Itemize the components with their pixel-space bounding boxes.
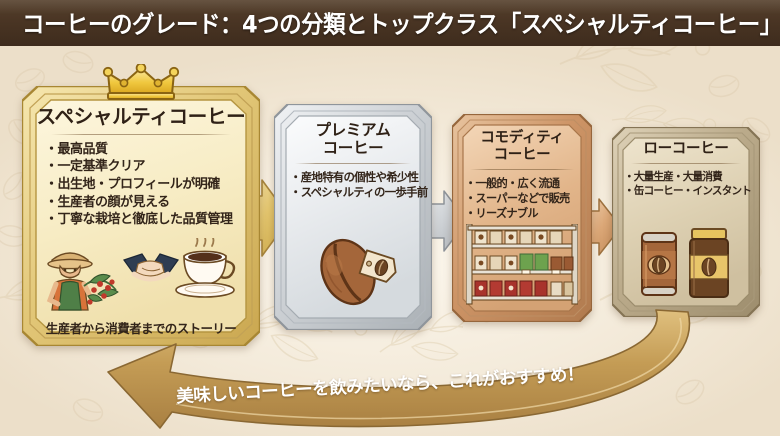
bullet-item: ・スーパーなどで販売: [465, 191, 579, 206]
divider: [295, 163, 410, 164]
crown-icon: [102, 64, 180, 100]
card-premium[interactable]: プレミアム コーヒー ・産地特有の個性や希少性 ・スペシャルティの一歩手前: [274, 104, 432, 330]
bullet-item: ・リーズナブル: [465, 206, 579, 221]
bullet-item: ・一般的・広く流通: [465, 176, 579, 191]
divider: [51, 134, 232, 135]
card-commodity[interactable]: コモディティ コーヒー ・一般的・広く流通 ・スーパーなどで販売 ・リーズナブル: [452, 114, 592, 322]
bullet-item: ・丁寧な栽培と徹底した品質管理: [45, 211, 237, 229]
card-premium-bullets: ・産地特有の個性や希少性 ・スペシャルティの一歩手前: [286, 170, 420, 201]
card-low-title: ローコーヒー: [643, 141, 728, 158]
recommendation-ribbon: [0, 300, 780, 436]
card-commodity-title: コモディティ コーヒー: [480, 130, 563, 164]
card-specialty-title: スペシャルティコーヒー: [37, 106, 246, 129]
bullet-item: ・最高品質: [45, 141, 237, 159]
card-low-bullets: ・大量生産・大量消費 ・缶コーヒー・インスタント: [622, 170, 750, 199]
supermarket-shelf-icon: [466, 224, 578, 308]
card-specialty-bullets: ・最高品質 ・一定基準クリア ・出生地・プロフィールが明確 ・生産者の顔が見える…: [36, 141, 246, 229]
header-bar: コーヒーのグレード：4つの分類とトップクラス「スペシャルティコーヒー」: [0, 0, 780, 46]
coffee-bean-with-tag-icon: [308, 234, 400, 310]
bullet-item: ・スペシャルティの一歩手前: [290, 185, 416, 201]
bullet-item: ・缶コーヒー・インスタント: [624, 184, 748, 198]
canned-coffee-and-instant-jar-icon: [634, 227, 738, 303]
card-premium-title: プレミアム コーヒー: [316, 122, 391, 158]
bullet-item: ・一定基準クリア: [45, 158, 237, 176]
bullet-item: ・生産者の顔が見える: [45, 194, 237, 212]
bullet-item: ・出生地・プロフィールが明確: [45, 176, 237, 194]
card-low[interactable]: ローコーヒー ・大量生産・大量消費 ・缶コーヒー・インスタント: [612, 127, 760, 317]
bullet-item: ・産地特有の個性や希少性: [290, 170, 416, 186]
bullet-item: ・大量生産・大量消費: [624, 170, 748, 184]
page-title: コーヒーのグレード：4つの分類とトップクラス「スペシャルティコーヒー」: [0, 6, 780, 40]
card-commodity-bullets: ・一般的・広く流通 ・スーパーなどで販売 ・リーズナブル: [462, 176, 582, 222]
infographic-canvas: コーヒーのグレード：4つの分類とトップクラス「スペシャルティコーヒー」 美味しい…: [0, 0, 780, 436]
divider: [470, 169, 573, 170]
divider: [631, 163, 741, 164]
